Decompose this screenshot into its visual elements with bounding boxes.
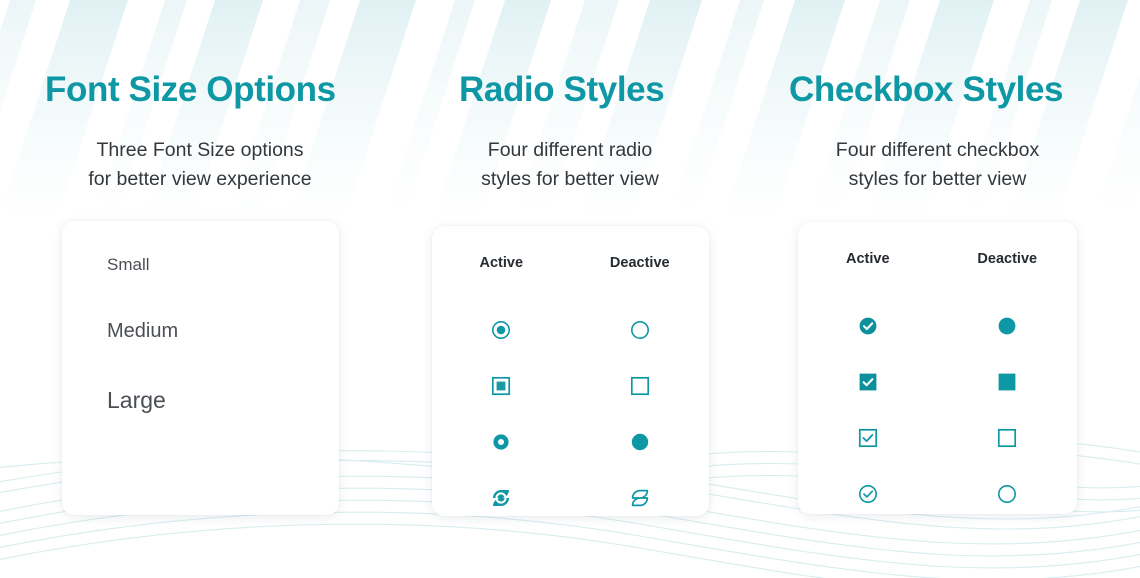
subtitle-line-2: styles for better view <box>785 165 1090 194</box>
radio-cell-deactive[interactable] <box>571 320 710 340</box>
radio-donut-filled-icon[interactable] <box>491 432 511 452</box>
radio-cell-active[interactable] <box>432 432 571 452</box>
font-size-option-large[interactable]: Large <box>107 387 178 414</box>
radio-rows <box>432 302 709 526</box>
checkbox-cell-active[interactable] <box>798 484 938 504</box>
font-size-list: Small Medium Large <box>107 255 178 414</box>
checkbox-row <box>798 354 1077 410</box>
radio-square-dot-icon[interactable] <box>491 376 511 396</box>
checkbox-circle-filled-icon[interactable] <box>997 316 1017 336</box>
radio-header-active: Active <box>432 255 571 271</box>
subtitle-line-1: Four different checkbox <box>785 136 1090 165</box>
radio-cell-deactive[interactable] <box>571 487 710 509</box>
page-title-checkbox: Checkbox Styles <box>789 70 1063 110</box>
radio-cell-active[interactable] <box>432 487 571 509</box>
subtitle-line-1: Three Font Size options <box>40 136 360 165</box>
checkbox-rows <box>798 298 1077 522</box>
subtitle-line-1: Four different radio <box>425 136 715 165</box>
radio-header-deactive: Deactive <box>571 255 710 271</box>
checkbox-square-check-outline-icon[interactable] <box>858 428 878 448</box>
checkbox-row <box>798 466 1077 522</box>
checkbox-cell-active[interactable] <box>798 316 938 336</box>
font-size-option-medium[interactable]: Medium <box>107 320 178 343</box>
subtitle-line-2: styles for better view <box>425 165 715 194</box>
checkbox-square-filled-icon[interactable] <box>997 372 1017 392</box>
font-size-option-small[interactable]: Small <box>107 255 178 275</box>
radio-circle-filled-icon[interactable] <box>630 432 650 452</box>
checkbox-circle-check-filled-icon[interactable] <box>858 316 878 336</box>
radio-cell-deactive[interactable] <box>571 376 710 396</box>
checkbox-column-headers: Active Deactive <box>798 251 1077 267</box>
checkbox-circle-outline-icon[interactable] <box>997 484 1017 504</box>
radio-circle-dot-icon[interactable] <box>491 320 511 340</box>
font-size-options-card: Small Medium Large <box>62 221 339 515</box>
checkbox-cell-deactive[interactable] <box>938 428 1078 448</box>
radio-square-outline-icon[interactable] <box>630 376 650 396</box>
checkbox-row <box>798 298 1077 354</box>
checkbox-square-check-filled-icon[interactable] <box>858 372 878 392</box>
subtitle-checkbox: Four different checkbox styles for bette… <box>785 136 1090 194</box>
subtitle-radio: Four different radio styles for better v… <box>425 136 715 194</box>
radio-styles-card: Active Deactive <box>432 226 709 516</box>
radio-column-headers: Active Deactive <box>432 255 709 271</box>
page-title-radio: Radio Styles <box>459 70 664 110</box>
radio-cell-active[interactable] <box>432 320 571 340</box>
checkbox-circle-check-outline-icon[interactable] <box>858 484 878 504</box>
radio-row <box>432 470 709 526</box>
radio-circle-outline-icon[interactable] <box>630 320 650 340</box>
checkbox-cell-deactive[interactable] <box>938 484 1078 504</box>
checkbox-cell-active[interactable] <box>798 428 938 448</box>
checkbox-square-outline-icon[interactable] <box>997 428 1017 448</box>
radio-leaf-dot-icon[interactable] <box>490 487 512 509</box>
radio-row <box>432 302 709 358</box>
checkbox-header-active: Active <box>798 251 938 267</box>
radio-row <box>432 414 709 470</box>
checkbox-cell-deactive[interactable] <box>938 372 1078 392</box>
page-title-font-size: Font Size Options <box>45 70 336 110</box>
subtitle-font-size: Three Font Size options for better view … <box>40 136 360 194</box>
radio-row <box>432 358 709 414</box>
radio-leaf-outline-icon[interactable] <box>629 487 651 509</box>
checkbox-cell-deactive[interactable] <box>938 316 1078 336</box>
checkbox-cell-active[interactable] <box>798 372 938 392</box>
checkbox-row <box>798 410 1077 466</box>
subtitle-line-2: for better view experience <box>40 165 360 194</box>
checkbox-styles-card: Active Deactive <box>798 222 1077 514</box>
radio-cell-active[interactable] <box>432 376 571 396</box>
checkbox-header-deactive: Deactive <box>938 251 1078 267</box>
radio-cell-deactive[interactable] <box>571 432 710 452</box>
